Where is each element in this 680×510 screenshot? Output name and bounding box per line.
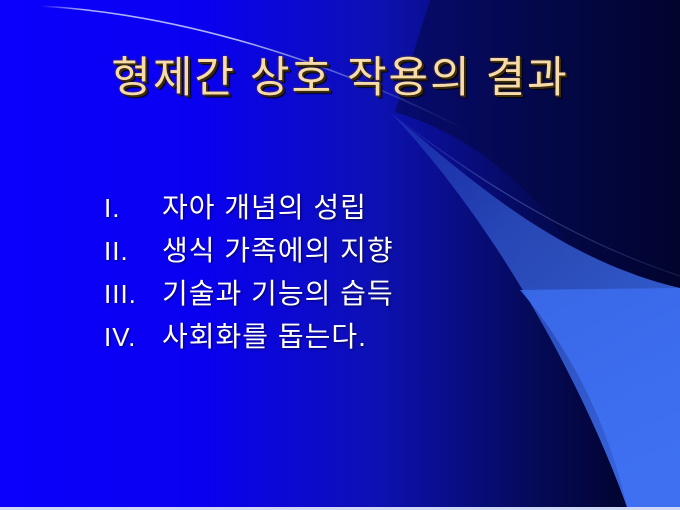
list-item-label: 기술과 기능의 습득 <box>162 272 584 312</box>
slide-content: 형제간 상호 작용의 결과 I. 자아 개념의 성립 II. 생식 가족에의 지… <box>0 0 680 510</box>
list-item: I. 자아 개념의 성립 <box>104 186 584 229</box>
list-item: III. 기술과 기능의 습득 <box>104 272 584 315</box>
list-item: IV. 사회화를 돕는다. <box>104 315 584 358</box>
list-item-marker: II. <box>104 236 162 267</box>
list-item-marker: IV. <box>104 322 162 353</box>
presentation-slide: 형제간 상호 작용의 결과 I. 자아 개념의 성립 II. 생식 가족에의 지… <box>0 0 680 510</box>
list-item-label: 사회화를 돕는다. <box>162 315 584 355</box>
list-item-label: 자아 개념의 성립 <box>162 186 584 226</box>
list-item-marker: III. <box>104 279 162 310</box>
list-item-marker: I. <box>104 193 162 224</box>
slide-bullet-list: I. 자아 개념의 성립 II. 생식 가족에의 지향 III. 기술과 기능의… <box>104 186 584 358</box>
slide-title: 형제간 상호 작용의 결과 <box>0 56 680 101</box>
list-item: II. 생식 가족에의 지향 <box>104 229 584 272</box>
list-item-label: 생식 가족에의 지향 <box>162 229 584 269</box>
